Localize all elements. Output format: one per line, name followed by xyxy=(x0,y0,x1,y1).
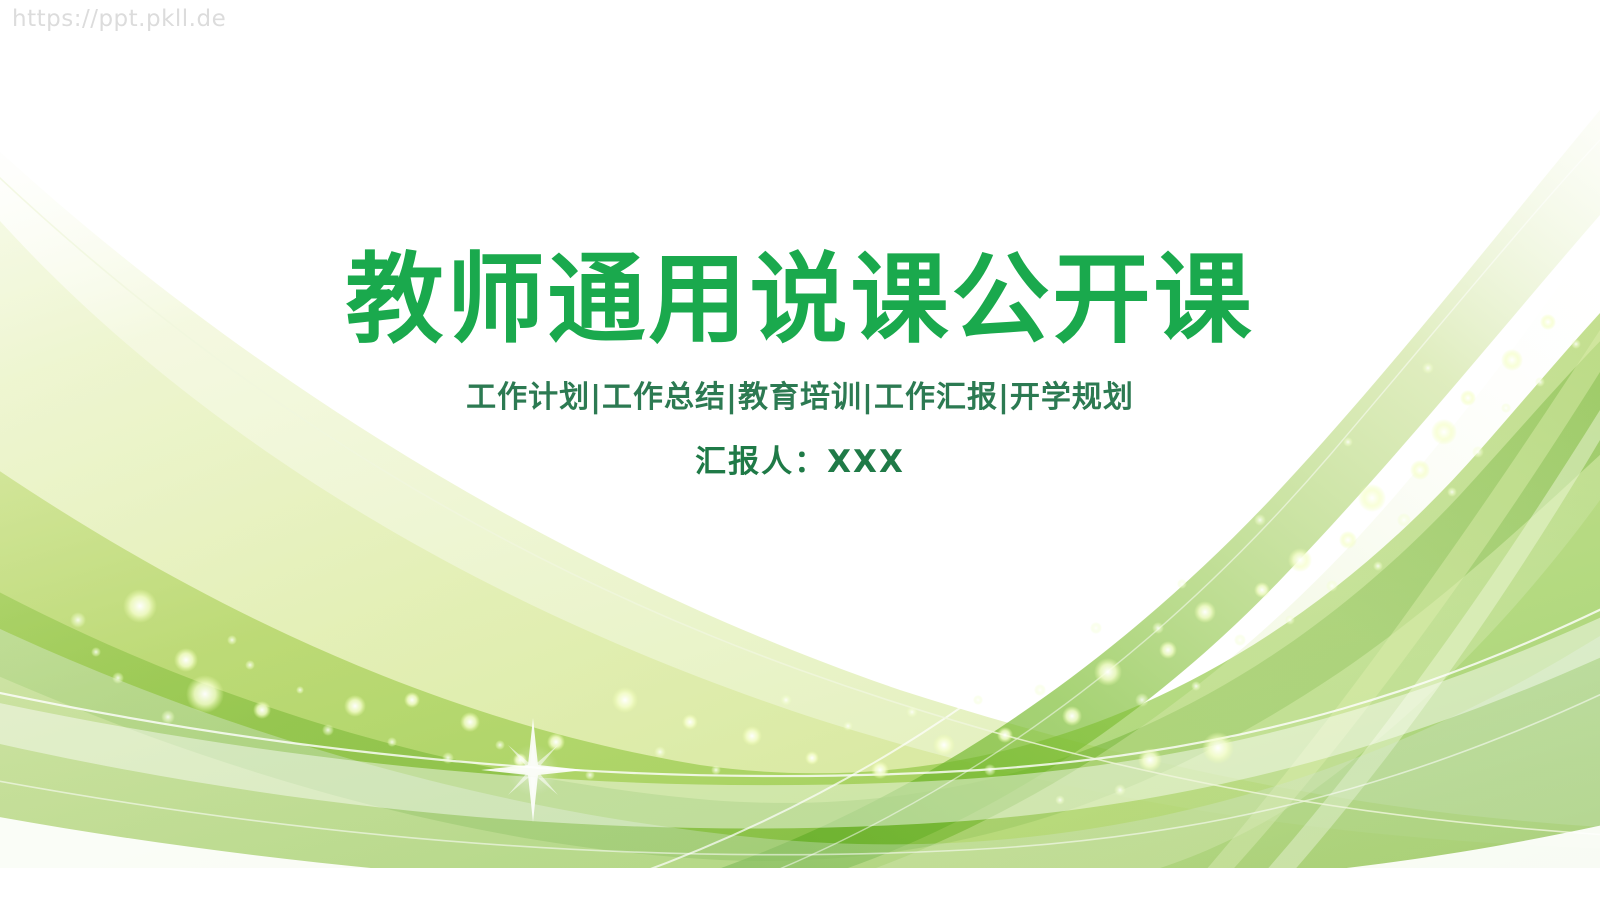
four-point-star-sparkle xyxy=(481,718,585,822)
title-text-block: 教师通用说课公开课 工作计划|工作总结|教育培训|工作汇报|开学规划 汇报人：X… xyxy=(0,248,1600,481)
presenter-label: 汇报人：XXX xyxy=(0,436,1600,481)
page-title: 教师通用说课公开课 xyxy=(0,248,1600,354)
slide-subtitle: 工作计划|工作总结|教育培训|工作汇报|开学规划 xyxy=(0,372,1600,416)
site-watermark: https://ppt.pkll.de xyxy=(12,6,226,32)
presentation-slide: https://ppt.pkll.de 教师通用说课公开课 工作计划|工作总结|… xyxy=(0,0,1600,900)
